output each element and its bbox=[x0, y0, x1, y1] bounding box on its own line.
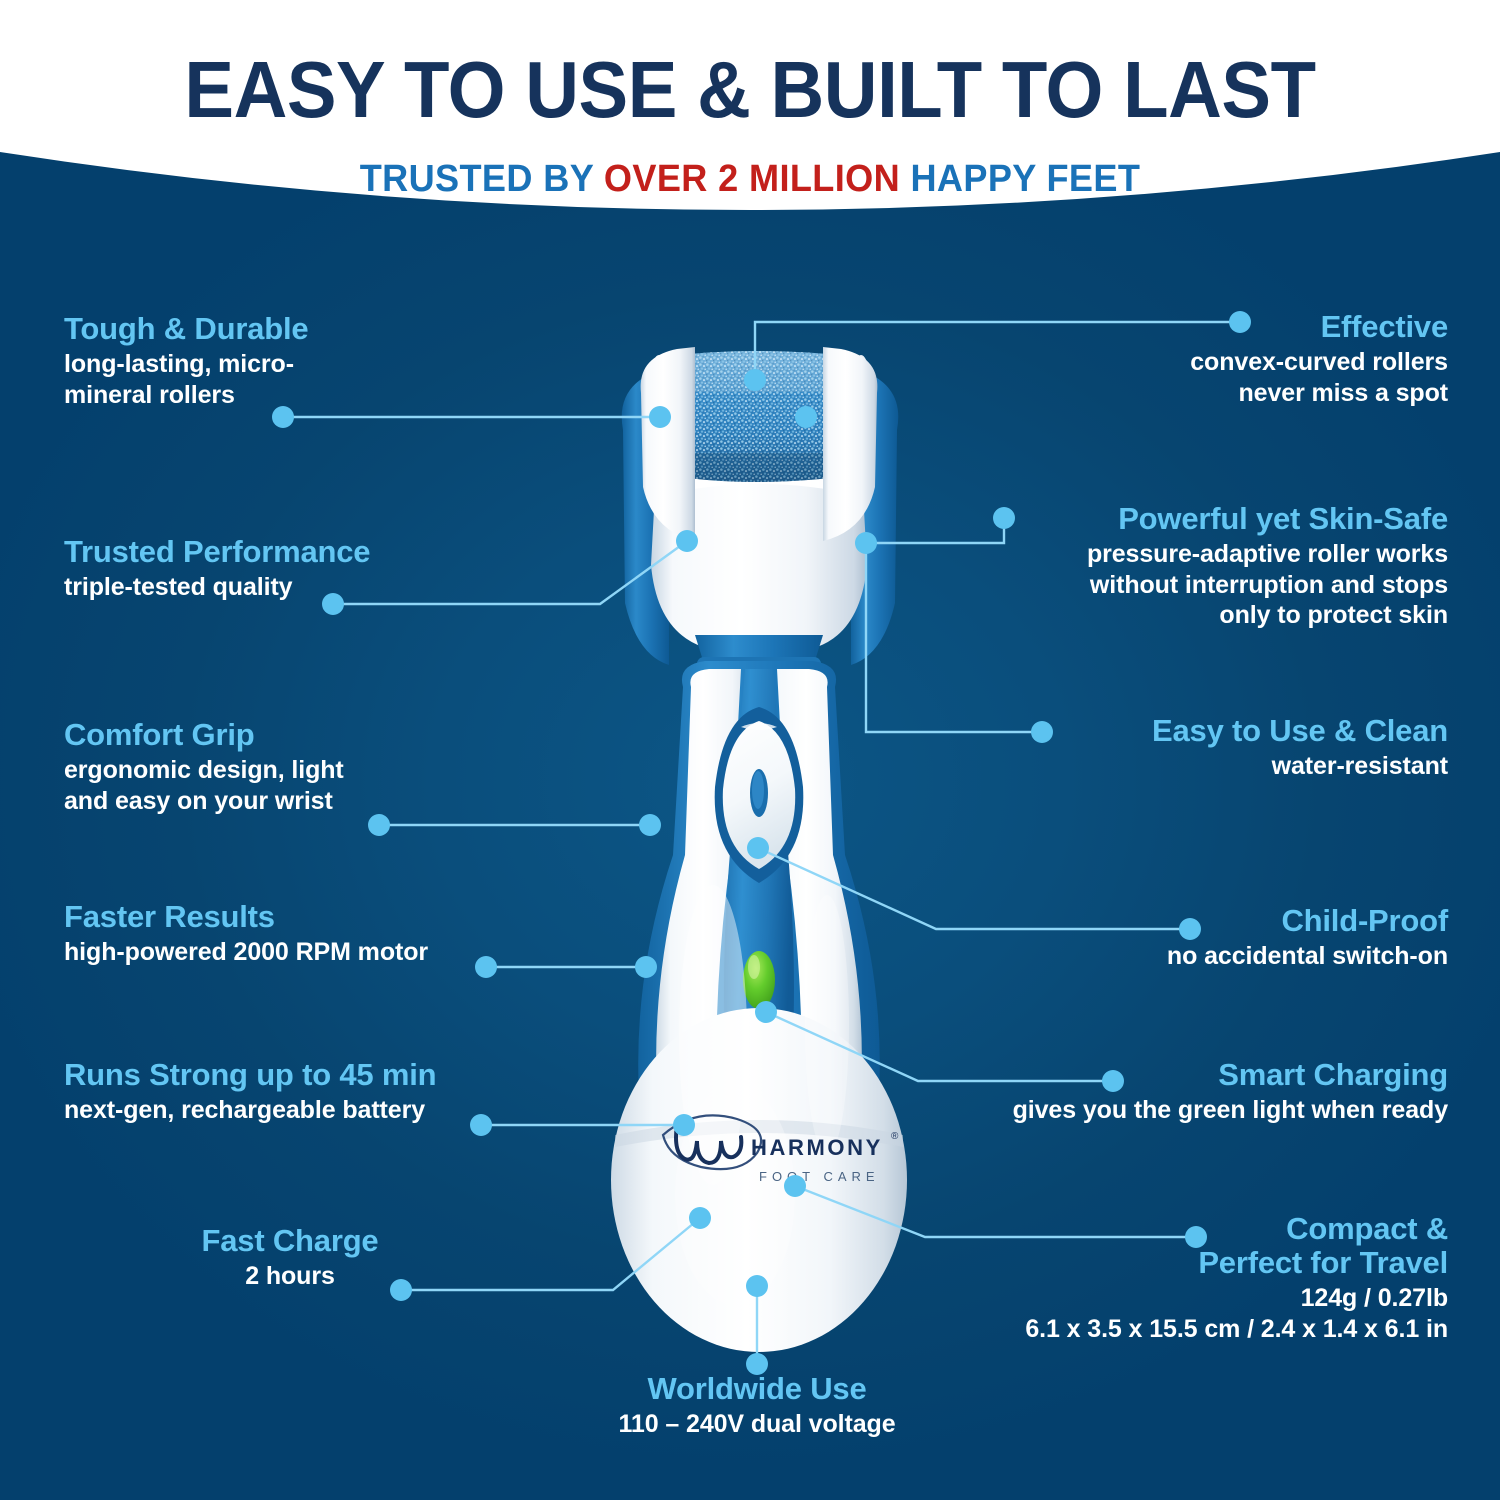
feature-desc: 124g / 0.27lb 6.1 x 3.5 x 15.5 cm / 2.4 … bbox=[940, 1283, 1448, 1344]
feature-desc: long-lasting, micro- mineral rollers bbox=[64, 349, 464, 410]
feature-faster-results: Faster Results high-powered 2000 RPM mot… bbox=[64, 900, 514, 968]
feature-desc: pressure-adaptive roller works without i… bbox=[1000, 539, 1448, 631]
feature-smart-charging: Smart Charging gives you the green light… bbox=[948, 1058, 1448, 1126]
feature-desc: convex-curved rollers never miss a spot bbox=[1036, 347, 1448, 408]
feature-title: Tough & Durable bbox=[64, 312, 464, 346]
feature-desc: gives you the green light when ready bbox=[948, 1095, 1448, 1126]
feature-title: Easy to Use & Clean bbox=[1060, 714, 1448, 748]
feature-effective: Effective convex-curved rollers never mi… bbox=[1036, 310, 1448, 408]
feature-desc: 110 – 240V dual voltage bbox=[557, 1409, 957, 1440]
feature-title: Worldwide Use bbox=[557, 1372, 957, 1406]
feature-fast-charge: Fast Charge 2 hours bbox=[200, 1224, 380, 1292]
feature-tough-durable: Tough & Durable long-lasting, micro- min… bbox=[64, 312, 464, 410]
feature-comfort-grip: Comfort Grip ergonomic design, light and… bbox=[64, 718, 464, 816]
feature-desc: next-gen, rechargeable battery bbox=[64, 1095, 524, 1126]
feature-desc: no accidental switch-on bbox=[1060, 941, 1448, 972]
header-banner: EASY TO USE & BUILT TO LAST TRUSTED BY O… bbox=[0, 0, 1500, 300]
feature-title: Trusted Performance bbox=[64, 535, 494, 569]
feature-title: Effective bbox=[1036, 310, 1448, 344]
svg-text:FOOT CARE: FOOT CARE bbox=[759, 1169, 880, 1184]
svg-text:®: ® bbox=[891, 1131, 899, 1142]
device-svg: HARMONY ® FOOT CARE bbox=[545, 335, 965, 1385]
feature-title: Compact & Perfect for Travel bbox=[940, 1212, 1448, 1280]
feature-title: Powerful yet Skin-Safe bbox=[1000, 502, 1448, 536]
feature-runs-strong: Runs Strong up to 45 min next-gen, recha… bbox=[64, 1058, 524, 1126]
product-image-foot-file: HARMONY ® FOOT CARE bbox=[545, 335, 965, 1385]
feature-desc: water-resistant bbox=[1060, 751, 1448, 782]
subtitle-prefix: TRUSTED BY bbox=[360, 158, 604, 200]
feature-desc: ergonomic design, light and easy on your… bbox=[64, 755, 464, 816]
feature-title: Fast Charge bbox=[200, 1224, 380, 1258]
feature-desc: 2 hours bbox=[200, 1261, 380, 1292]
feature-worldwide-use: Worldwide Use 110 – 240V dual voltage bbox=[557, 1372, 957, 1440]
page-subtitle: TRUSTED BY OVER 2 MILLION HAPPY FEET bbox=[38, 158, 1463, 201]
feature-trusted-performance: Trusted Performance triple-tested qualit… bbox=[64, 535, 494, 603]
svg-text:HARMONY: HARMONY bbox=[751, 1135, 883, 1160]
feature-compact-travel: Compact & Perfect for Travel 124g / 0.27… bbox=[940, 1212, 1448, 1344]
feature-title: Runs Strong up to 45 min bbox=[64, 1058, 524, 1092]
feature-title: Faster Results bbox=[64, 900, 514, 934]
page-title: EASY TO USE & BUILT TO LAST bbox=[53, 50, 1448, 130]
subtitle-highlight: OVER 2 MILLION bbox=[604, 158, 900, 200]
feature-easy-use-clean: Easy to Use & Clean water-resistant bbox=[1060, 714, 1448, 782]
subtitle-suffix: HAPPY FEET bbox=[900, 158, 1140, 200]
feature-child-proof: Child-Proof no accidental switch-on bbox=[1060, 904, 1448, 972]
infographic-canvas: HARMONY ® FOOT CARE bbox=[0, 0, 1500, 1500]
feature-desc: high-powered 2000 RPM motor bbox=[64, 937, 514, 968]
feature-title: Child-Proof bbox=[1060, 904, 1448, 938]
feature-desc: triple-tested quality bbox=[64, 572, 494, 603]
feature-title: Smart Charging bbox=[948, 1058, 1448, 1092]
feature-title: Comfort Grip bbox=[64, 718, 464, 752]
feature-powerful-skin-safe: Powerful yet Skin-Safe pressure-adaptive… bbox=[1000, 502, 1448, 631]
